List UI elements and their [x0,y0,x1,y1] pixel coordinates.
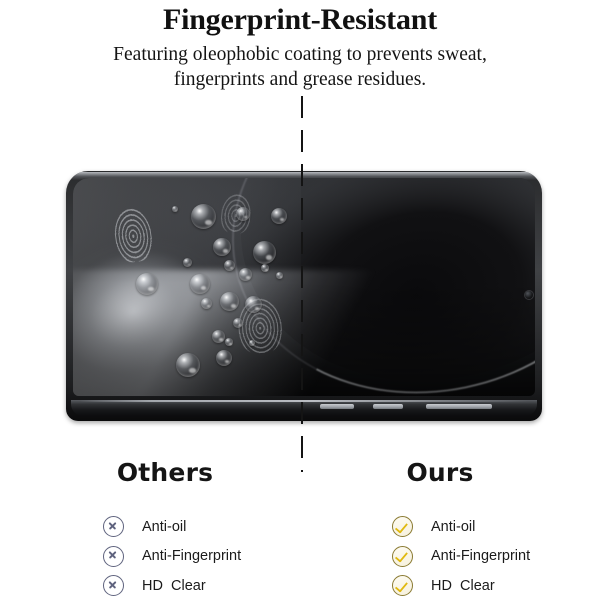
feature-list-ours: Anti-oil Anti-Fingerprint HD Clear [392,512,530,601]
water-droplet [261,264,269,272]
water-droplet [212,330,225,343]
water-droplet [276,272,283,279]
column-title-others: Others [0,458,330,487]
feature-row: HD Clear [392,571,530,601]
page-title: Fingerprint-Resistant [0,2,600,38]
water-droplet [191,204,216,229]
feature-list-others: Anti-oil Anti-Fingerprint HD Clear [103,512,241,601]
feature-row: Anti-oil [392,512,530,542]
water-droplet [224,260,235,271]
feature-label: Anti-oil [431,520,475,535]
phone-screen [73,178,535,396]
phone-product-image [66,171,542,421]
check-circle-icon [392,516,413,537]
x-circle-icon [103,516,124,537]
water-droplet [213,238,231,256]
water-droplet [220,292,239,311]
water-droplet [253,241,276,264]
feature-row: Anti-oil [103,512,241,542]
water-droplet [201,298,212,309]
product-feature-card: Fingerprint-Resistant Featuring oleophob… [0,0,600,600]
water-droplet [245,296,262,313]
feature-label: Anti-oil [142,520,186,535]
x-circle-icon [103,546,124,567]
page-subtitle: Featuring oleophobic coating to prevents… [18,42,582,92]
feature-row: HD Clear [103,571,241,601]
water-droplet [176,353,200,377]
phone-body [66,171,542,421]
x-circle-icon [103,575,124,596]
water-droplet [239,268,252,281]
water-droplet [190,274,210,294]
column-title-ours: Ours [330,458,550,487]
water-droplet [225,338,233,346]
check-circle-icon [392,546,413,567]
feature-label: Anti-Fingerprint [142,549,241,564]
water-droplet [271,208,287,224]
comparison-divider-line [301,96,303,472]
dirty-screen-half [73,178,301,396]
front-camera-icon [525,291,533,299]
feature-label: HD Clear [431,579,495,594]
check-circle-icon [392,575,413,596]
subtitle-line-2: fingerprints and grease residues. [174,69,426,90]
water-droplet [216,350,232,366]
phone-edge-highlight [80,400,528,402]
water-droplet [136,273,158,295]
water-droplet [236,207,250,221]
subtitle-line-1: Featuring oleophobic coating to prevents… [113,44,487,65]
feature-row: Anti-Fingerprint [103,542,241,572]
water-droplet [233,318,243,328]
water-droplet [172,206,178,212]
phone-speaker-grille [426,404,492,409]
phone-port-slot [320,404,354,409]
feature-label: HD Clear [142,579,206,594]
water-droplet [249,340,255,346]
feature-row: Anti-Fingerprint [392,542,530,572]
water-droplet [183,258,192,267]
feature-label: Anti-Fingerprint [431,549,530,564]
phone-port-slot [373,404,403,409]
